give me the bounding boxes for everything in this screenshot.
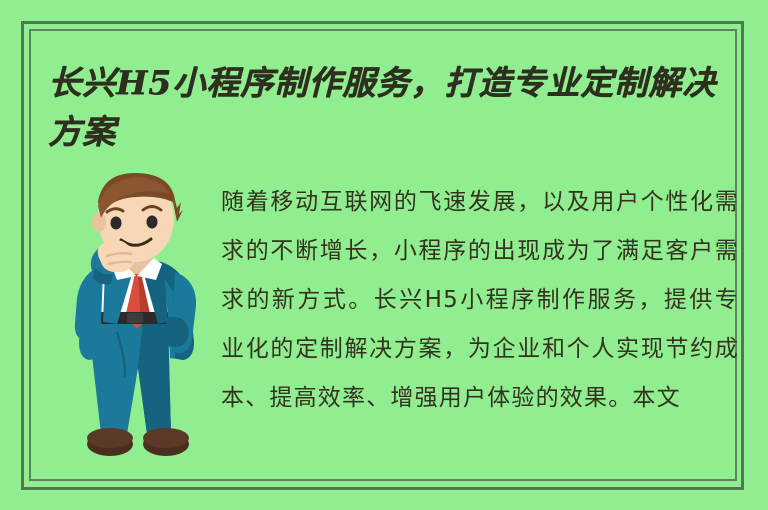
body-paragraph: 随着移动互联网的飞速发展，以及用户个性化需求的不断增长，小程序的出现成为了满足客…: [221, 178, 739, 423]
page-title: 长兴H5小程序制作服务，打造专业定制解决方案: [48, 58, 738, 156]
eye-right: [147, 216, 158, 229]
eye-left: [111, 217, 122, 230]
businessman-thinking-icon: [55, 172, 225, 485]
belt-buckle: [127, 313, 143, 323]
ear-left: [92, 212, 106, 232]
poster-canvas: 长兴H5小程序制作服务，打造专业定制解决方案 随着移动互联网的飞速发展，以及用户…: [0, 0, 768, 510]
shoe-left-top: [87, 428, 133, 448]
businessman-illustration: [55, 172, 225, 485]
shoe-right-top: [143, 428, 189, 448]
